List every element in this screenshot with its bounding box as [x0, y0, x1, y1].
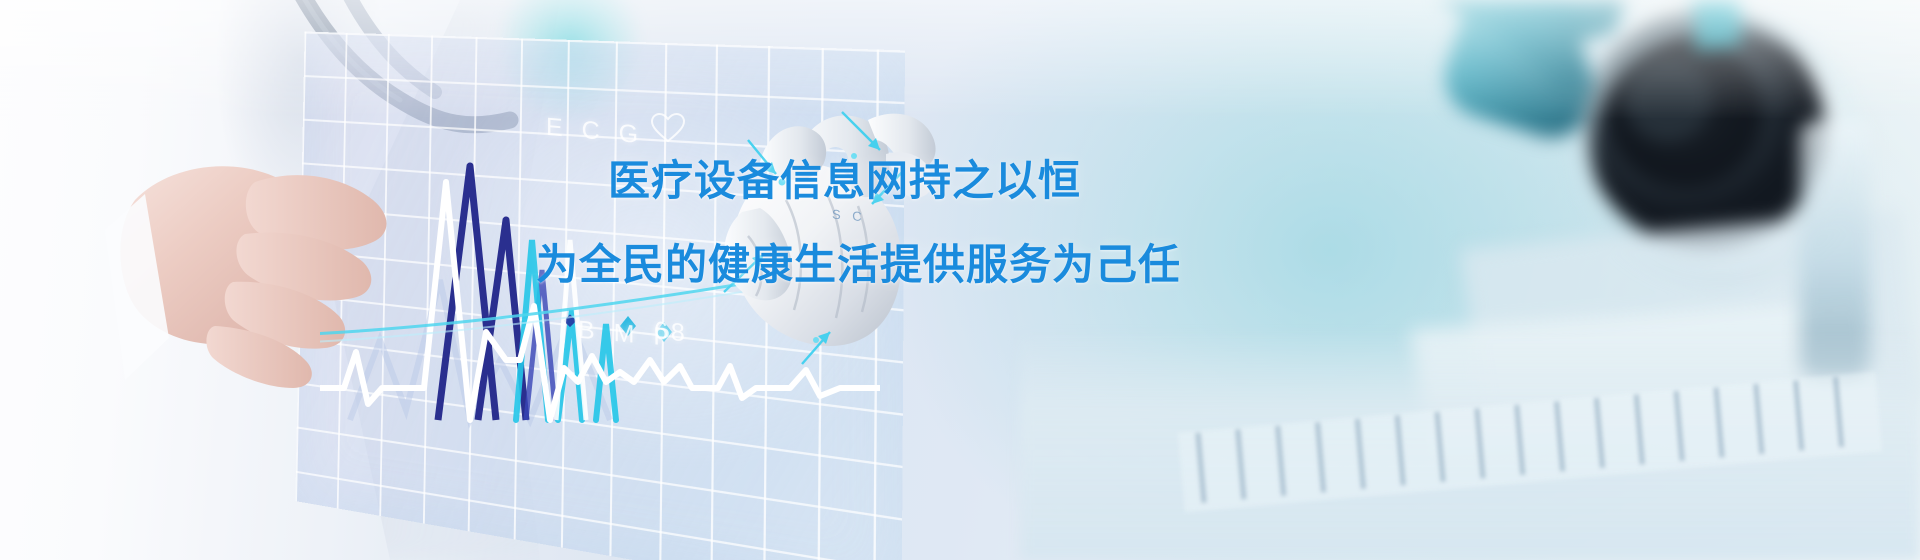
headline-line-1: 医疗设备信息网持之以恒: [608, 160, 1608, 202]
headline-line-2: 为全民的健康生活提供服务为己任: [536, 244, 1608, 286]
bmp-value: 68: [654, 317, 688, 349]
top-haze-overlay: [0, 0, 1920, 120]
hero-banner: E C G B M P 68 S C 医疗设备信息网持之以恒 为全民的健康生活提…: [0, 0, 1920, 560]
headline-block: 医疗设备信息网持之以恒 为全民的健康生活提供服务为己任: [608, 160, 1608, 286]
